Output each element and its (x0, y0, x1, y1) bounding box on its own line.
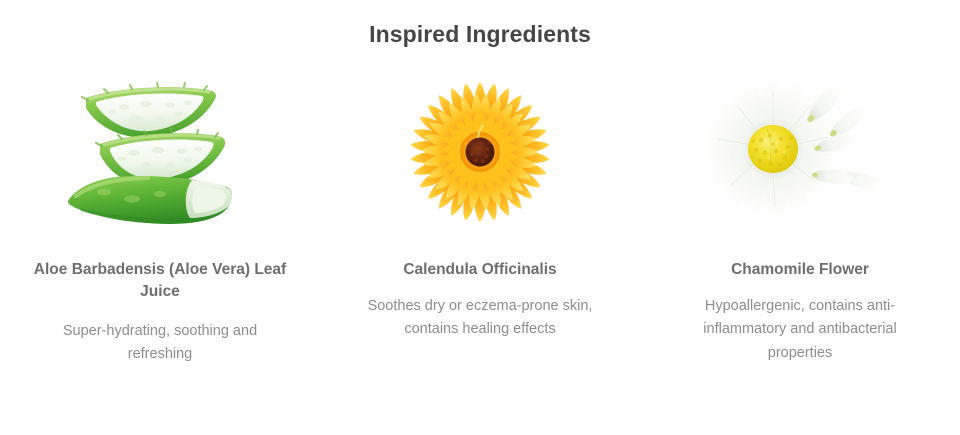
ingredient-card-aloe: Aloe Barbadensis (Aloe Vera) Leaf Juice … (0, 65, 320, 367)
ingredient-title: Aloe Barbadensis (Aloe Vera) Leaf Juice (24, 259, 296, 303)
page-title: Inspired Ingredients (0, 0, 960, 49)
calendula-flower-image (336, 65, 624, 240)
ingredient-description: Super-hydrating, soothing and refreshing (38, 320, 283, 367)
ingredient-card-calendula: Calendula Officinalis Soothes dry or ecz… (320, 65, 640, 367)
ingredient-title: Calendula Officinalis (403, 259, 556, 281)
ingredient-title: Chamomile Flower (731, 259, 869, 281)
ingredient-description: Hypoallergenic, contains anti-inflammato… (679, 295, 921, 365)
ingredient-description: Soothes dry or eczema-prone skin, contai… (345, 295, 615, 342)
ingredients-columns: Aloe Barbadensis (Aloe Vera) Leaf Juice … (0, 65, 960, 367)
inspired-ingredients-section: Inspired Ingredients (0, 0, 960, 435)
aloe-vera-leaf-slices-image (16, 65, 304, 240)
ingredient-card-chamomile: Chamomile Flower Hypoallergenic, contain… (640, 65, 960, 367)
chamomile-flower-image (656, 65, 944, 240)
